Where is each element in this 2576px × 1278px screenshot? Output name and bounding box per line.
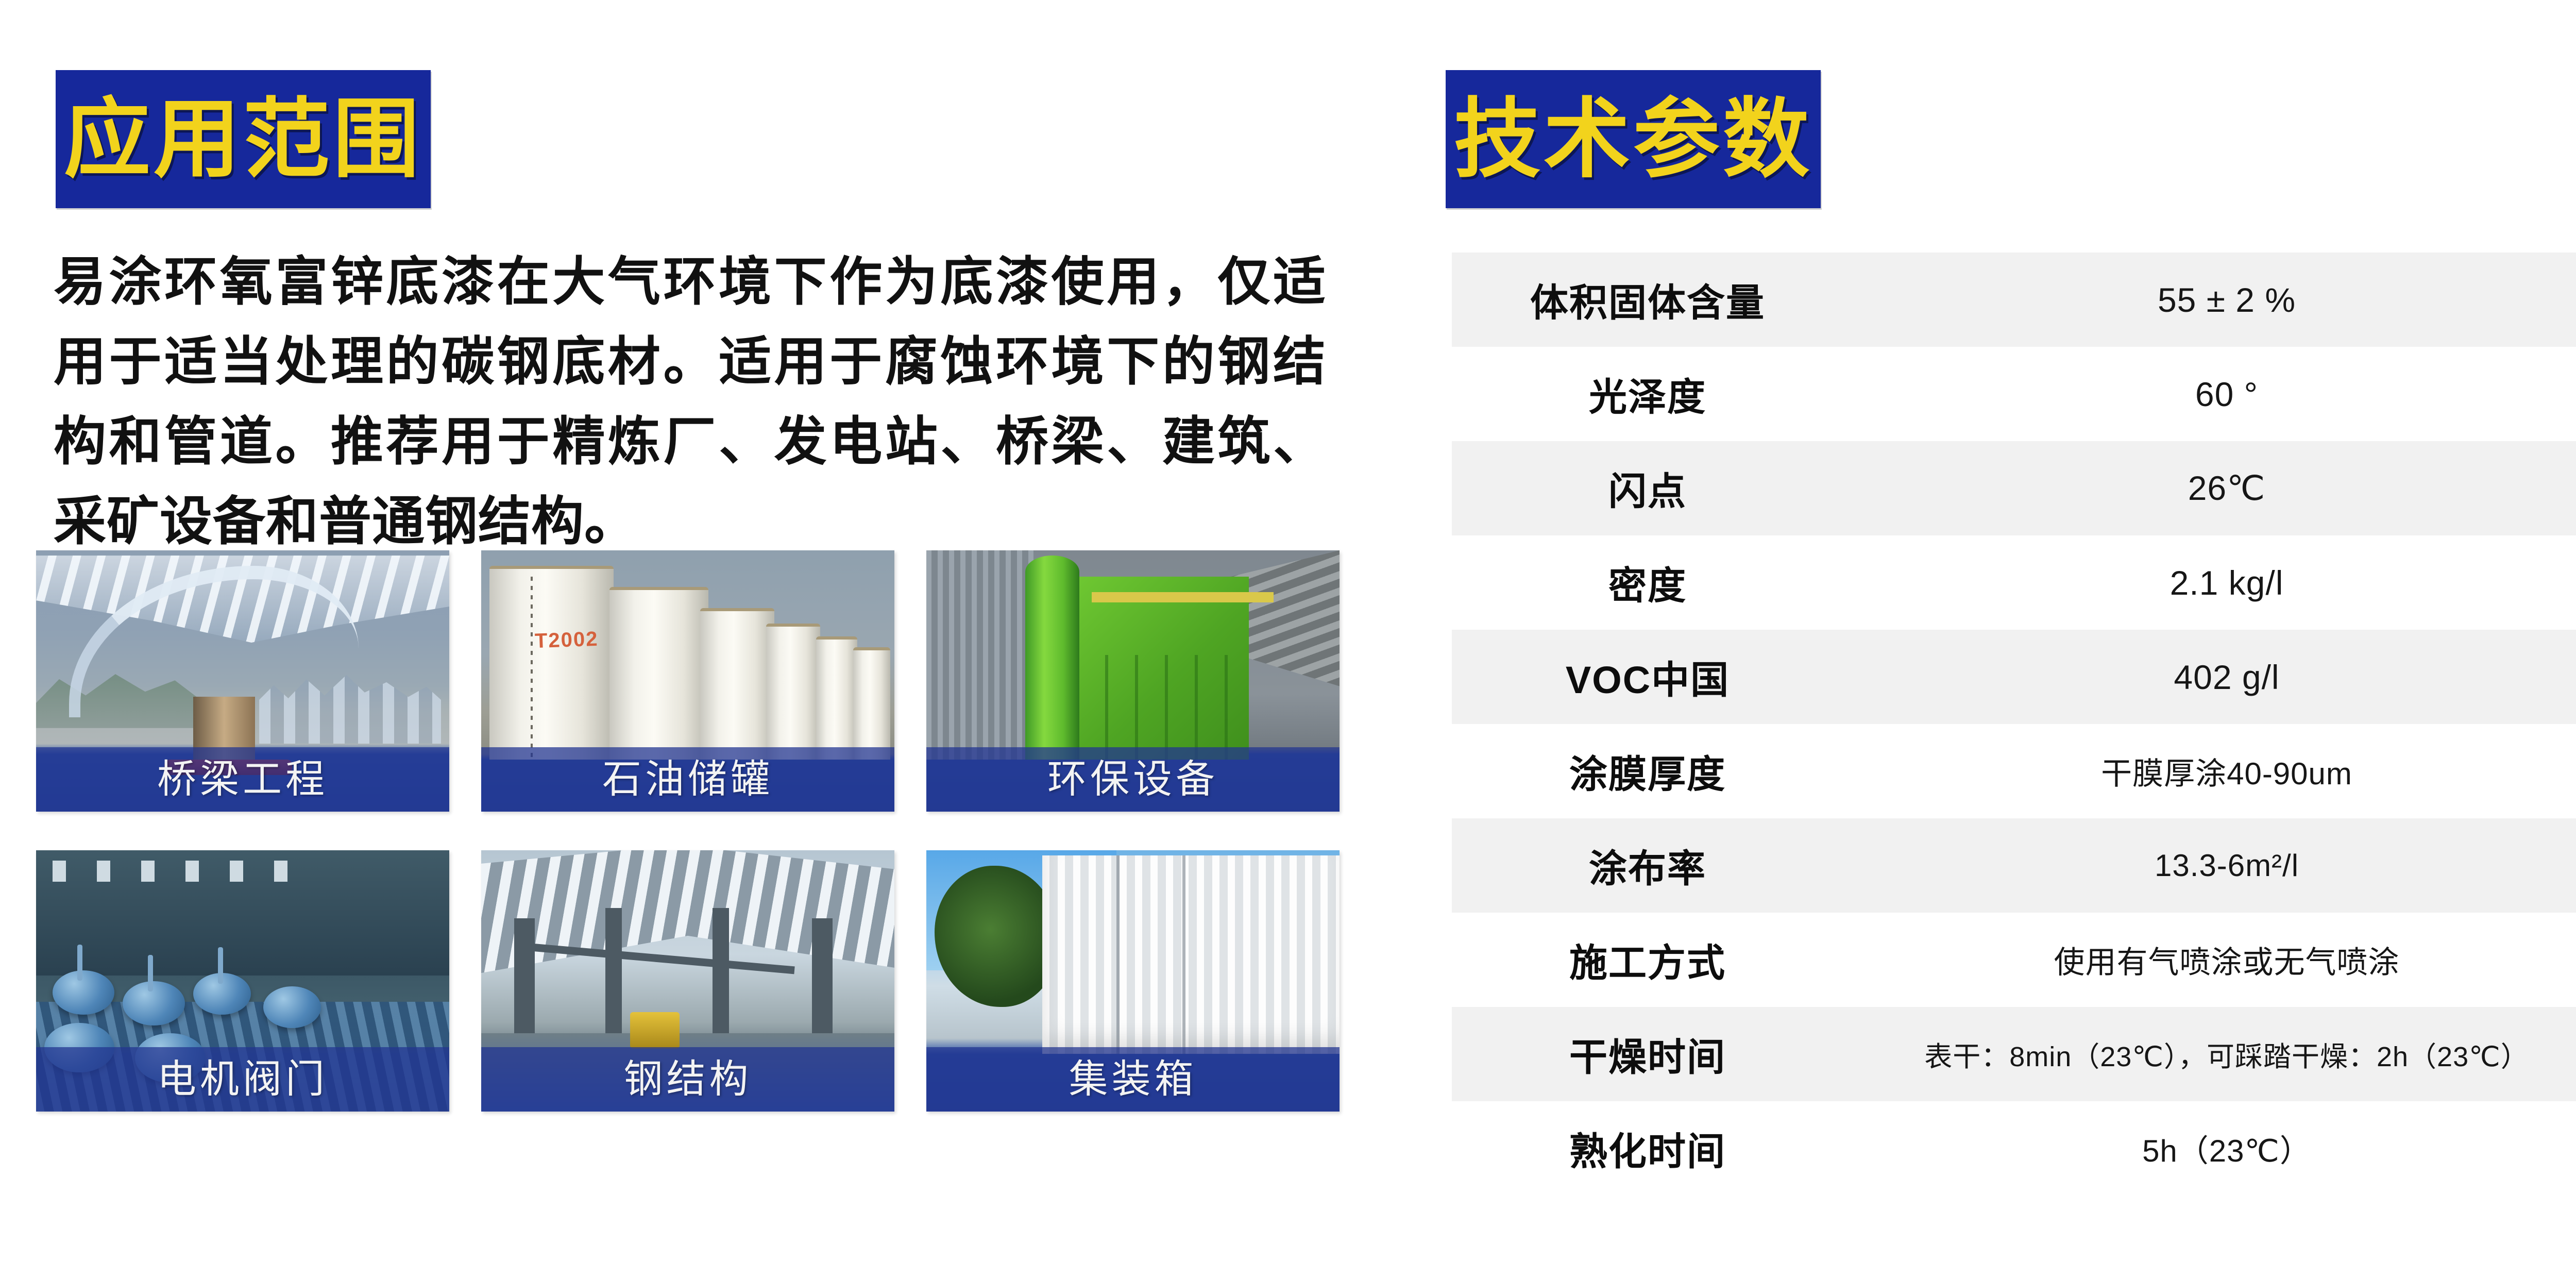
spec-value: 26℃ [1843, 468, 2576, 508]
technical-parameters-heading-text: 技术参数 [1454, 96, 1812, 182]
shipping-container-shape [1042, 855, 1340, 1054]
tank-shape [609, 587, 708, 760]
handrail-shape [1092, 592, 1274, 602]
gallery-caption-bar: 电机阀门 [36, 1047, 449, 1112]
gallery-caption-label: 环保设备 [1047, 760, 1218, 799]
tank-shape [766, 624, 820, 760]
spec-value: 2.1 kg/l [1843, 563, 2576, 602]
tank-shape [816, 636, 857, 759]
gallery-caption-bar: 环保设备 [926, 747, 1340, 812]
column-shape [713, 908, 729, 1054]
tank-shape [489, 566, 614, 759]
technical-parameters-heading-badge: 技术参数 [1446, 70, 1821, 208]
table-row: 密度 2.1 kg/l [1452, 535, 2576, 630]
valve-stem-shape [218, 947, 223, 984]
gallery-caption-bar: 石油储罐 [481, 747, 894, 812]
table-row: 闪点 26℃ [1452, 441, 2576, 535]
valve-wheel-shape [263, 986, 321, 1028]
duct-stack-shape [1025, 556, 1079, 759]
metal-wall-shape [926, 550, 1034, 760]
spec-value: 使用有气喷涂或无气喷涂 [1843, 937, 2576, 982]
table-row: 干燥时间 表干：8min（23℃），可踩踏干燥：2h（23℃） [1452, 1007, 2576, 1101]
gallery-item-oil-tank[interactable]: T2002 石油储罐 [481, 550, 894, 812]
spec-value: 402 g/l [1843, 658, 2576, 697]
spec-value: 60 ° [1843, 375, 2576, 414]
valve-stem-shape [77, 945, 82, 981]
ceiling-lights-shape [53, 861, 292, 882]
gallery-item-motor-valve[interactable]: 电机阀门 [36, 850, 449, 1112]
table-row: 涂膜厚度 干膜厚涂40-90um [1452, 724, 2576, 818]
table-row: 光泽度 60 ° [1452, 347, 2576, 441]
spec-value: 表干：8min（23℃），可踩踏干燥：2h（23℃） [1843, 1034, 2576, 1074]
gallery-caption-label: 钢结构 [624, 1060, 752, 1099]
spec-value: 5h（23℃） [1843, 1126, 2576, 1171]
spec-value: 55 ± 2 % [1843, 280, 2576, 320]
valve-wheel-shape [53, 970, 114, 1015]
roof-panel-shape [481, 850, 894, 991]
valve-wheel-shape [123, 981, 184, 1025]
container-door-seam [1182, 855, 1185, 1054]
table-row: 熟化时间 5h（23℃） [1452, 1101, 2576, 1196]
spec-label: 闪点 [1452, 461, 1843, 516]
gallery-caption-label: 石油储罐 [602, 760, 773, 799]
container-door-seam [1116, 855, 1120, 1054]
spec-label: 光泽度 [1452, 366, 1843, 422]
excavator-shape [630, 1012, 680, 1049]
spec-label: 体积固体含量 [1452, 272, 1843, 327]
application-scope-panel: 应用范围 易涂环氧富锌底漆在大气环境下作为底漆使用，仅适用于适当处理的碳钢底材。… [0, 0, 1365, 1278]
spec-label: 施工方式 [1452, 932, 1843, 987]
tank-gauge-shape [531, 577, 533, 760]
gallery-item-container[interactable]: 集装箱 [926, 850, 1340, 1112]
gallery-caption-label: 电机阀门 [157, 1060, 328, 1099]
technical-parameters-table: 体积固体含量 55 ± 2 % 光泽度 60 ° 闪点 26℃ 密度 2.1 k… [1452, 253, 2576, 1196]
application-gallery: 桥梁工程 T2002 石油储罐 [36, 550, 1319, 1112]
brace-shape [531, 943, 795, 974]
valve-stem-shape [148, 955, 153, 991]
spec-label: 熟化时间 [1452, 1121, 1843, 1176]
gallery-item-env-equipment[interactable]: 环保设备 [926, 550, 1340, 812]
gallery-caption-bar: 钢结构 [481, 1047, 894, 1112]
hopper-shape [1075, 655, 1249, 760]
tank-id-text: T2002 [535, 628, 599, 653]
gallery-item-bridge[interactable]: 桥梁工程 [36, 550, 449, 812]
spec-label: VOC中国 [1452, 649, 1843, 704]
gallery-caption-bar: 集装箱 [926, 1047, 1340, 1112]
spec-label: 干燥时间 [1452, 1027, 1843, 1082]
gallery-item-steel-structure[interactable]: 钢结构 [481, 850, 894, 1112]
gallery-caption-label: 桥梁工程 [157, 760, 328, 799]
spec-value: 干膜厚涂40-90um [1843, 749, 2576, 794]
spec-label: 涂布率 [1452, 838, 1843, 893]
application-scope-paragraph: 易涂环氧富锌底漆在大气环境下作为底漆使用，仅适用于适当处理的碳钢底材。适用于腐蚀… [54, 242, 1326, 562]
product-spec-page: 应用范围 易涂环氧富锌底漆在大气环境下作为底漆使用，仅适用于适当处理的碳钢底材。… [0, 0, 2576, 1278]
spec-value: 13.3-6m²/l [1843, 848, 2576, 883]
tank-shape [853, 647, 890, 760]
application-scope-heading-text: 应用范围 [64, 96, 422, 182]
spec-label: 密度 [1452, 555, 1843, 610]
gallery-caption-bar: 桥梁工程 [36, 747, 449, 812]
tank-shape [700, 608, 774, 760]
tree-shape [935, 866, 1059, 1007]
table-row: 体积固体含量 55 ± 2 % [1452, 253, 2576, 347]
gallery-caption-label: 集装箱 [1069, 1060, 1197, 1099]
table-row: 施工方式 使用有气喷涂或无气喷涂 [1452, 913, 2576, 1007]
table-row: 涂布率 13.3-6m²/l [1452, 818, 2576, 913]
column-shape [605, 908, 622, 1054]
application-scope-heading-badge: 应用范围 [56, 70, 431, 208]
spec-label: 涂膜厚度 [1452, 744, 1843, 799]
table-row: VOC中国 402 g/l [1452, 630, 2576, 724]
